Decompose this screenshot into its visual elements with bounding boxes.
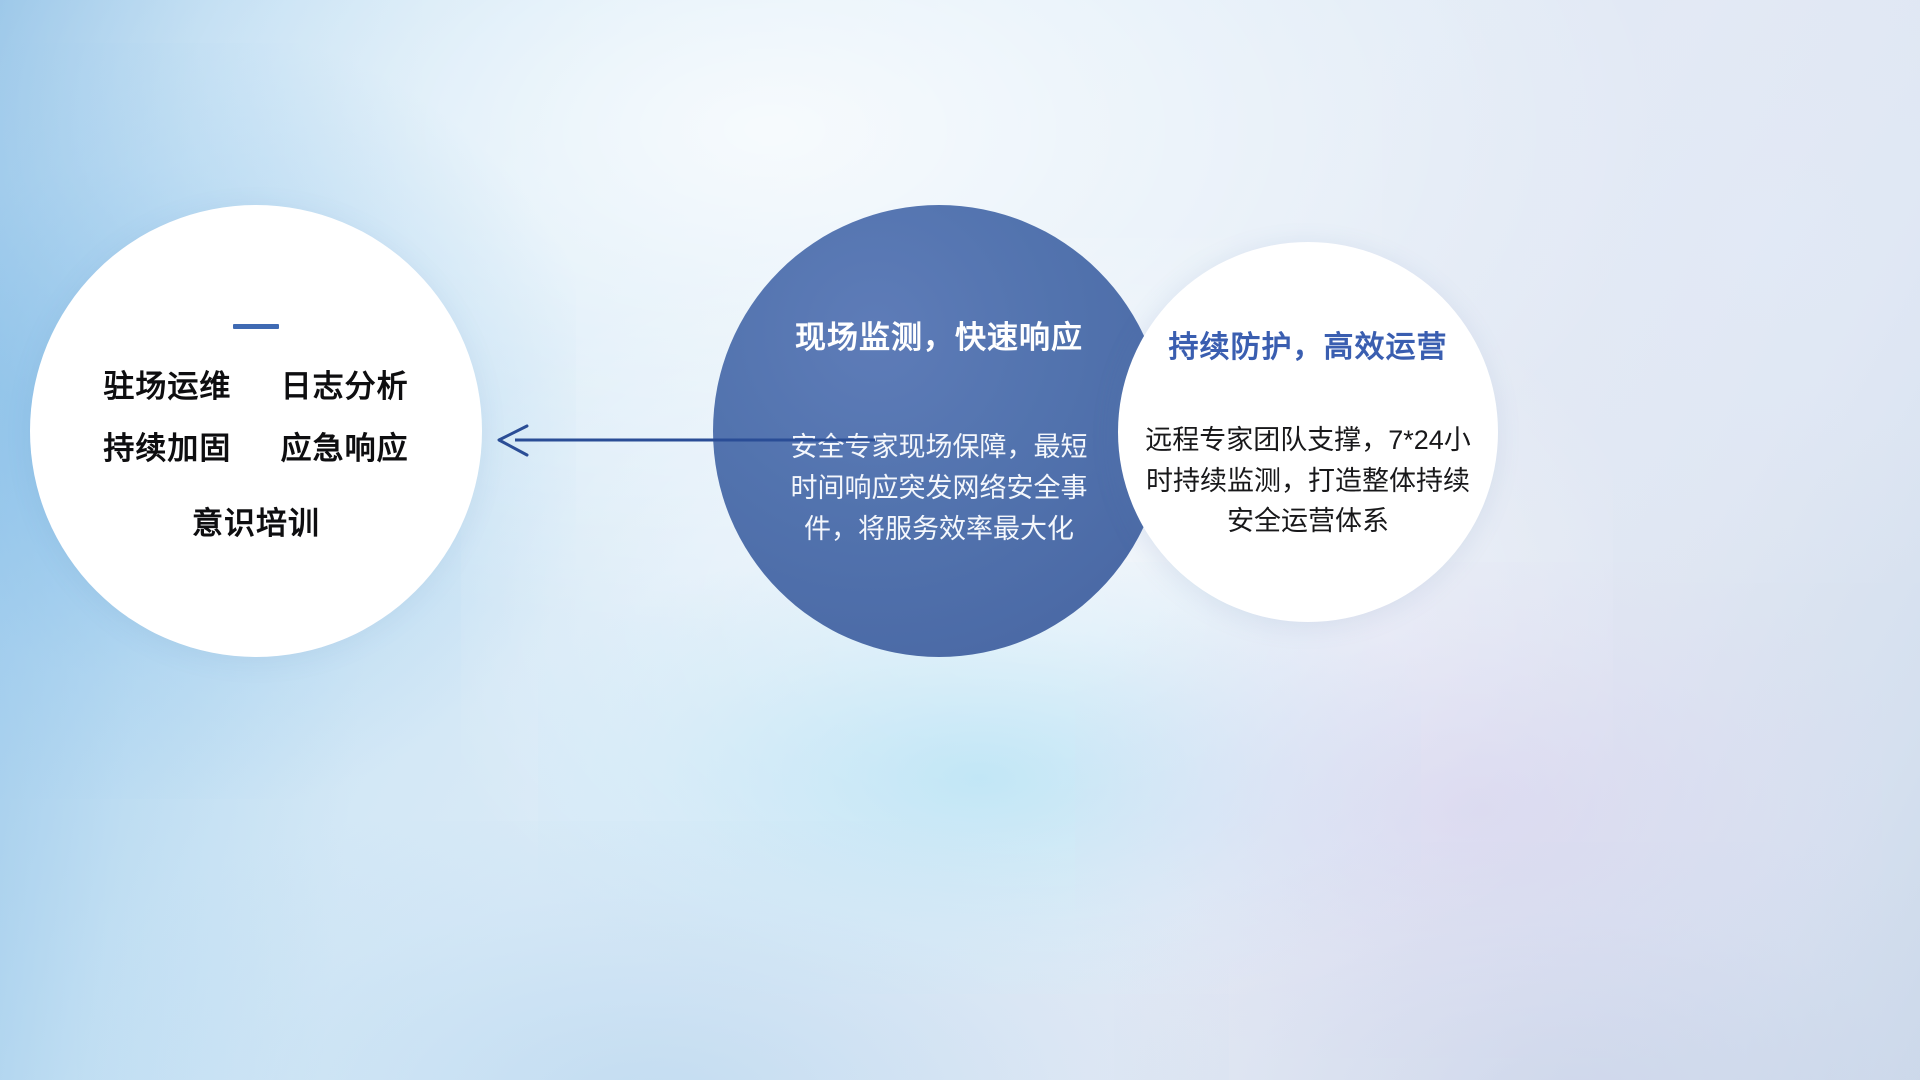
capability-row: 持续加固 应急响应 [103, 433, 408, 464]
continuous-protection-circle[interactable]: 持续防护，高效运营 远程专家团队支撑，7*24小时持续监测，打造整体持续安全运营… [1118, 242, 1498, 622]
capability-label: 意识培训 [192, 506, 320, 541]
capability-row: 驻场运维 日志分析 [103, 371, 408, 402]
capability-label: 持续加固 [103, 431, 231, 466]
capability-label: 日志分析 [281, 369, 409, 404]
diagram-stage: 现场监测，快速响应 安全专家现场保障，最短时间响应突发网络安全事件，将服务效率最… [0, 0, 1920, 1080]
continuous-protection-body: 远程专家团队支撑，7*24小时持续监测，打造整体持续安全运营体系 [1143, 420, 1473, 542]
onsite-monitoring-title: 现场监测，快速响应 [795, 312, 1083, 357]
capabilities-circle[interactable]: 驻场运维 日志分析 持续加固 应急响应 意识培训 [30, 205, 482, 657]
capability-row: 意识培训 [192, 508, 320, 539]
capability-label: 驻场运维 [103, 369, 231, 404]
continuous-protection-title: 持续防护，高效运营 [1169, 322, 1448, 366]
flow-arrow-icon [487, 408, 877, 472]
capability-label: 应急响应 [281, 431, 409, 466]
divider-dash [233, 324, 279, 329]
